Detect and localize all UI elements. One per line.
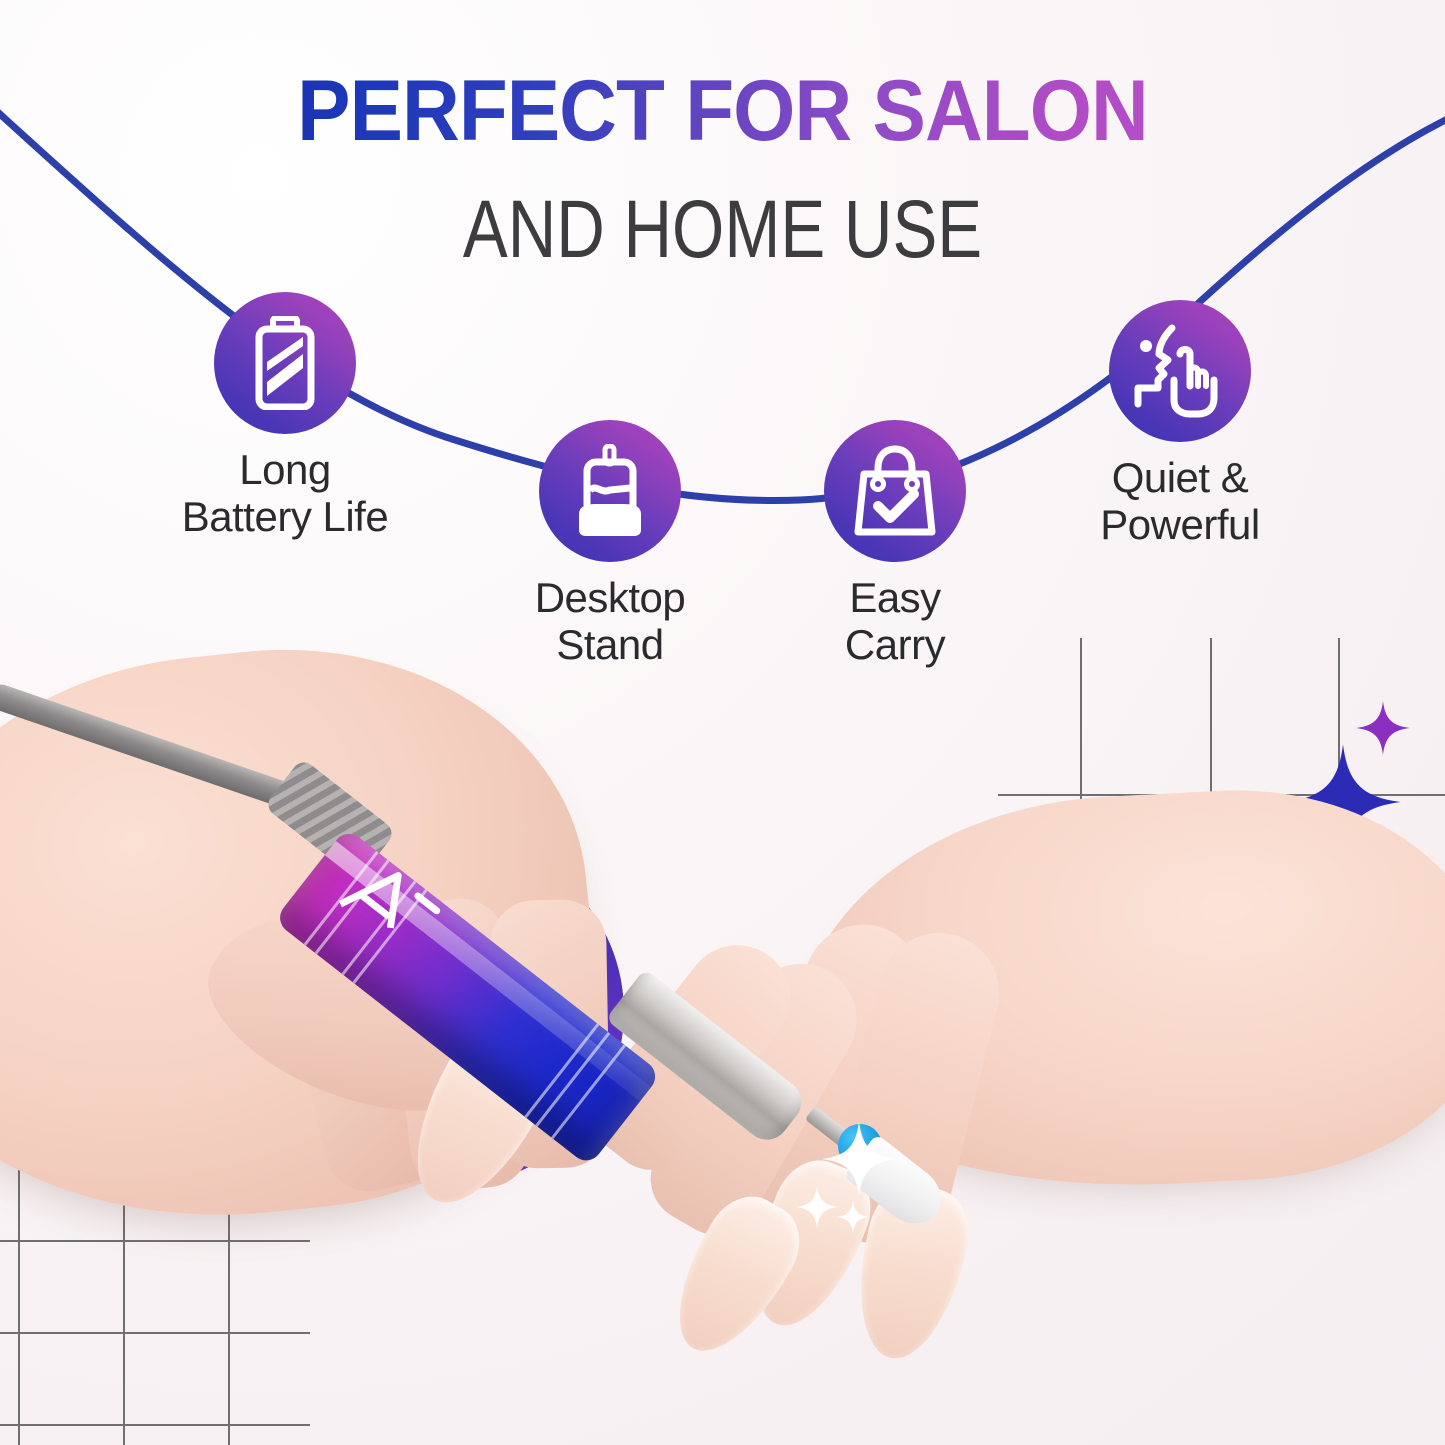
sparkle-white-icon	[836, 1200, 870, 1239]
page-subtitle: AND HOME USE	[130, 183, 1315, 277]
drill-pen-body	[274, 828, 662, 1167]
shush-face-icon	[1132, 324, 1228, 418]
feature-label-line1: Quiet &	[1015, 454, 1345, 501]
desktop-stand-icon	[567, 444, 653, 538]
battery-icon	[250, 316, 320, 410]
page-title: PERFECT FOR SALON	[51, 68, 1395, 156]
feature-icon-bubble	[824, 420, 966, 562]
shopping-bag-check-icon	[850, 444, 940, 538]
feature-label-line2: Powerful	[1015, 501, 1345, 548]
feature-label: Quiet & Powerful	[1015, 454, 1345, 548]
product-in-use-photo	[0, 600, 1445, 1445]
feature-icon-bubble	[539, 420, 681, 562]
feature-label-line2: Battery Life	[120, 493, 450, 540]
nail-drill-pen	[120, 700, 760, 1260]
marketing-banner: PERFECT FOR SALON AND HOME USE Long Batt…	[0, 0, 1445, 1445]
feature-icon-bubble	[1109, 300, 1251, 442]
feature-quiet-powerful: Quiet & Powerful	[1015, 300, 1345, 548]
feature-label: Long Battery Life	[120, 446, 450, 540]
feature-long-battery-life: Long Battery Life	[120, 292, 450, 540]
feature-icon-bubble	[214, 292, 356, 434]
sparkle-white-icon	[795, 1185, 839, 1234]
feature-label-line1: Long	[120, 446, 450, 493]
